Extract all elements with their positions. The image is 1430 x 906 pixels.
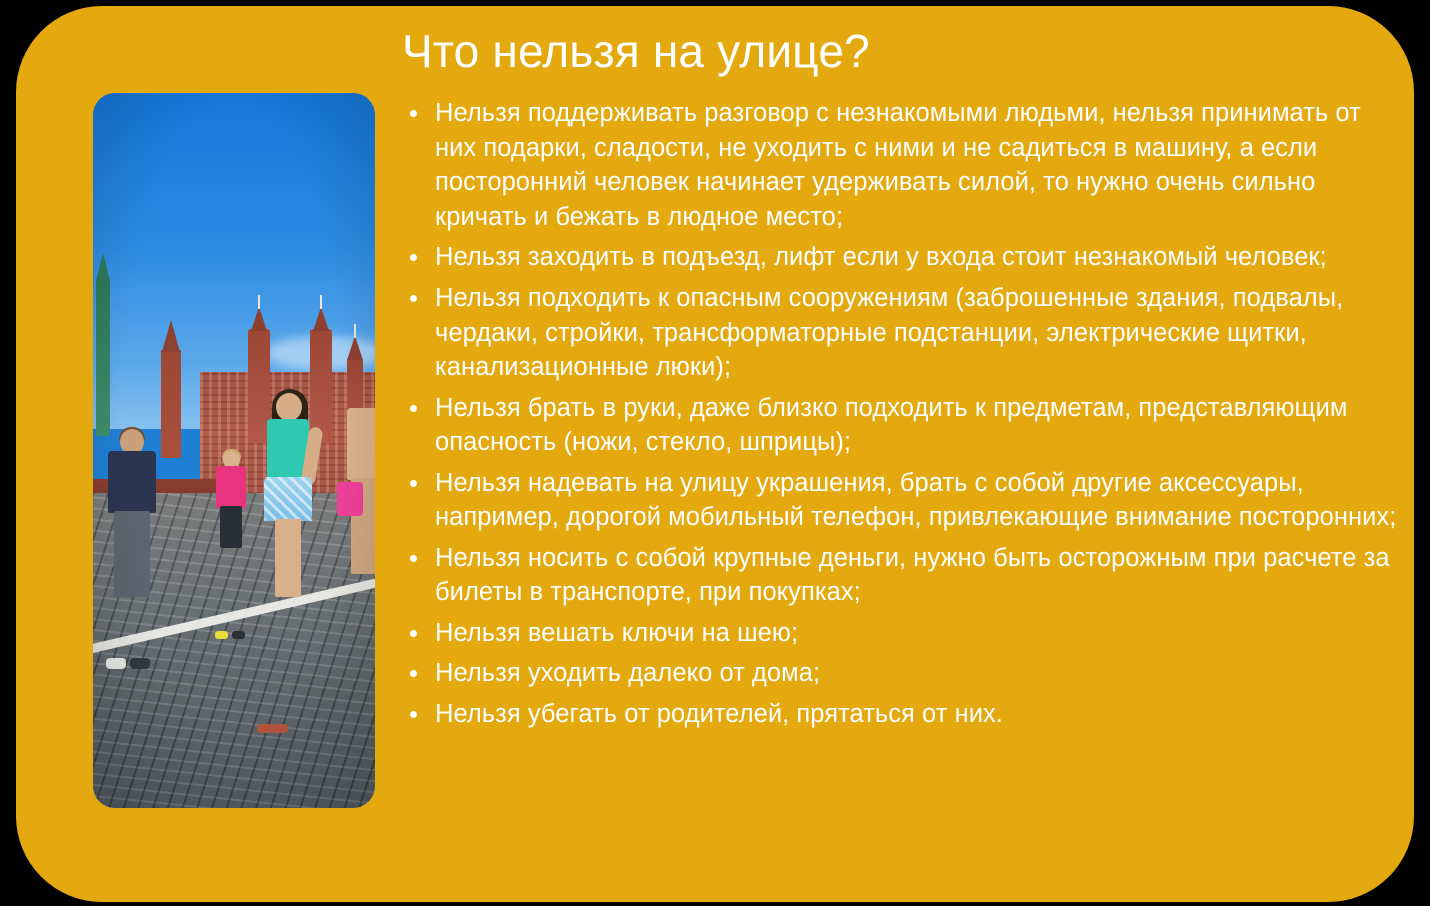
list-item: Нельзя брать в руки, даже близко подходи…	[402, 391, 1402, 460]
page-title: Что нельзя на улице?	[402, 24, 1402, 78]
list-item: Нельзя носить с собой крупные деньги, ну…	[402, 541, 1402, 610]
green-spire-shape	[96, 279, 110, 436]
list-item: Нельзя вешать ключи на шею;	[402, 616, 1402, 651]
list-item: Нельзя подходить к опасным сооружениям (…	[402, 281, 1402, 385]
slide-root: Что нельзя на улице? Нельзя поддерживать…	[0, 0, 1430, 906]
slide-card: Что нельзя на улице? Нельзя поддерживать…	[16, 6, 1414, 902]
list-item: Нельзя надевать на улицу украшения, брат…	[402, 466, 1402, 535]
kremlin-tower-shape	[161, 350, 181, 457]
person-child-shape	[214, 451, 248, 637]
photo-red-square	[93, 93, 375, 808]
person-man-shape	[104, 429, 160, 665]
list-item: Нельзя уходить далеко от дома;	[402, 656, 1402, 691]
content-column: Что нельзя на улице? Нельзя поддерживать…	[402, 24, 1402, 738]
photo-frame	[93, 93, 375, 808]
rules-bullet-list: Нельзя поддерживать разговор с незнакомы…	[402, 96, 1402, 731]
list-item: Нельзя заходить в подъезд, лифт если у в…	[402, 240, 1402, 275]
list-item: Нельзя убегать от родителей, прятаться о…	[402, 697, 1402, 732]
person-partial-shape	[339, 408, 375, 708]
list-item: Нельзя поддерживать разговор с незнакомы…	[402, 96, 1402, 234]
person-girl-shape	[257, 393, 319, 729]
